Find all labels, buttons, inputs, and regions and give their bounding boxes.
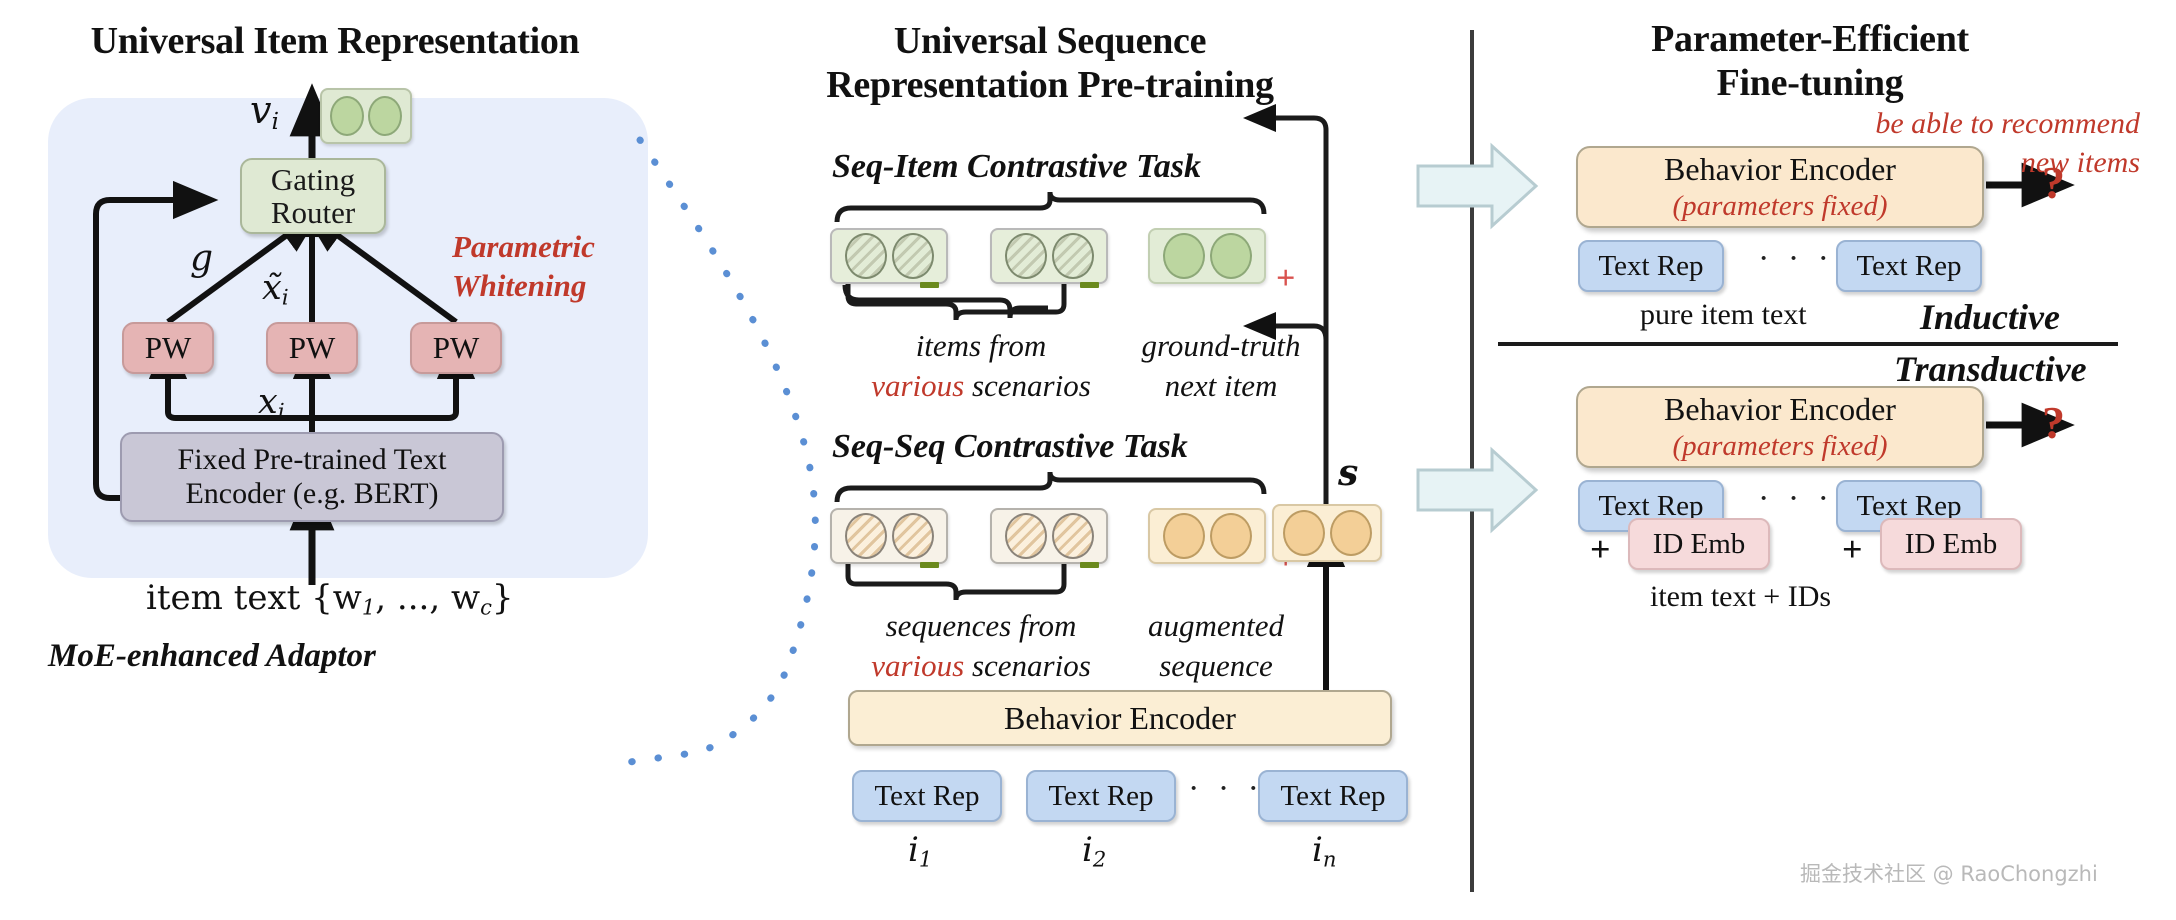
positive-sign-1: + xyxy=(1276,262,1295,296)
caption-line1: items from xyxy=(866,326,1096,366)
text-rep-box-2[interactable]: Text Rep xyxy=(1026,770,1176,822)
caption-black: scenarios xyxy=(972,368,1091,403)
ellipsis-middle: · · · xyxy=(1188,772,1264,806)
gating-router-line2: Router xyxy=(271,196,355,229)
encoder-line1: Fixed Pre-trained Text xyxy=(178,443,447,477)
behavior-encoder-transductive[interactable]: Behavior Encoder (parameters fixed) xyxy=(1576,386,1984,468)
sequence-circle xyxy=(1283,510,1325,556)
pw-box-3[interactable]: PW xyxy=(410,322,502,374)
middle-title-line2: Representation Pre-training xyxy=(820,64,1280,108)
gate-label: g xyxy=(190,238,213,279)
output-vector-label: vi xyxy=(250,88,279,135)
annotation-line1: be able to recommend xyxy=(1810,104,2140,143)
id-emb-box-1[interactable]: ID Emb xyxy=(1628,518,1770,570)
text-rep-inductive-1[interactable]: Text Rep xyxy=(1578,240,1724,292)
seq-seq-negative-2 xyxy=(990,508,1108,564)
seq-seq-task-title: Seq-Seq Contrastive Task xyxy=(832,428,1188,466)
pw-box-1[interactable]: PW xyxy=(122,322,214,374)
sequence-circle xyxy=(845,513,887,559)
page-title-left: Universal Item Representation xyxy=(30,20,640,64)
fixed-text-encoder-box[interactable]: Fixed Pre-trained Text Encoder (e.g. BER… xyxy=(120,432,504,522)
item-index-2: i2 xyxy=(1082,830,1106,871)
vector-dim-2 xyxy=(368,96,402,136)
middle-title-line1: Universal Sequence xyxy=(820,20,1280,64)
sequence-circle xyxy=(1052,513,1094,559)
item-index-n: in xyxy=(1312,830,1336,871)
divider-label-transductive: Transductive xyxy=(1894,348,2087,390)
question-mark-transductive: ? xyxy=(2042,400,2065,446)
right-title-line2: Fine-tuning xyxy=(1560,62,2060,106)
caption-line2: next item xyxy=(1106,366,1336,406)
output-vector-cell xyxy=(320,88,412,144)
page-title-middle: Universal Sequence Representation Pre-tr… xyxy=(820,20,1280,107)
vector-dim-1 xyxy=(330,96,364,136)
caption-red: various xyxy=(871,648,964,683)
page-title-right: Parameter-Efficient Fine-tuning xyxy=(1560,18,2060,105)
inductive-caption: pure item text xyxy=(1640,298,1807,332)
negative-sign-4 xyxy=(1080,562,1099,568)
encoder-line2: Encoder (e.g. BERT) xyxy=(185,477,438,511)
plus-sign-2: + xyxy=(1842,528,1863,570)
seq-item-positive-caption: ground-truth next item xyxy=(1106,326,1336,407)
pw-box-2[interactable]: PW xyxy=(266,322,358,374)
ellipsis-inductive: · · · xyxy=(1758,242,1834,276)
seq-item-task-title: Seq-Item Contrastive Task xyxy=(832,148,1201,186)
ellipsis-transductive: · · · xyxy=(1758,482,1834,516)
gating-router-line1: Gating xyxy=(271,163,355,196)
sequence-circle xyxy=(1163,513,1205,559)
seq-seq-positive-caption: augmented sequence xyxy=(1108,606,1324,687)
whitened-vector-label: x̃i xyxy=(262,268,289,310)
sequence-representation-box xyxy=(1272,504,1382,562)
transductive-caption: item text + IDs xyxy=(1650,580,1831,614)
sequence-circle xyxy=(1330,510,1372,556)
question-mark-inductive: ? xyxy=(2042,160,2065,206)
text-rep-box-1[interactable]: Text Rep xyxy=(852,770,1002,822)
gating-router-box[interactable]: Gating Router xyxy=(240,158,386,234)
sequence-label-s: s xyxy=(1338,452,1358,494)
divider-label-inductive: Inductive xyxy=(1920,296,2060,338)
encoder-title: Behavior Encoder xyxy=(1664,151,1896,188)
encoder-title: Behavior Encoder xyxy=(1664,391,1896,428)
seq-seq-negatives-caption: sequences from various scenarios xyxy=(856,606,1106,687)
item-index-1: i1 xyxy=(908,830,932,871)
sequence-circle xyxy=(1210,513,1252,559)
sequence-circle xyxy=(1005,513,1047,559)
caption-line2: sequence xyxy=(1108,646,1324,686)
caption-black: scenarios xyxy=(972,648,1091,683)
sequence-circle xyxy=(892,513,934,559)
seq-seq-negative-1 xyxy=(830,508,948,564)
text-rep-box-3[interactable]: Text Rep xyxy=(1258,770,1408,822)
item-circle xyxy=(1052,233,1094,279)
pw-annot-line2: Whitening xyxy=(452,267,595,306)
plus-sign-1: + xyxy=(1590,528,1611,570)
raw-vector-label: xi xyxy=(258,382,285,424)
item-circle xyxy=(1210,233,1252,279)
seq-item-negative-2 xyxy=(990,228,1108,284)
negative-sign-2 xyxy=(1080,282,1099,288)
seq-item-positive xyxy=(1148,228,1266,284)
item-text-label: item text {w1, ..., wc} xyxy=(146,578,514,619)
id-emb-box-2[interactable]: ID Emb xyxy=(1880,518,2022,570)
behavior-encoder-pretrain[interactable]: Behavior Encoder xyxy=(848,690,1392,746)
pw-annot-line1: Parametric xyxy=(452,228,595,267)
negative-sign-1 xyxy=(920,282,939,288)
item-circle xyxy=(892,233,934,279)
seq-seq-positive xyxy=(1148,508,1266,564)
watermark: 掘金技术社区 @ RaoChongzhi xyxy=(1800,858,2098,888)
seq-item-negative-1 xyxy=(830,228,948,284)
encoder-subtitle: (parameters fixed) xyxy=(1672,430,1887,463)
seq-item-negatives-caption: items from various scenarios xyxy=(866,326,1096,407)
caption-red: various xyxy=(871,368,964,403)
parametric-whitening-annotation: Parametric Whitening xyxy=(452,228,595,306)
negative-sign-3 xyxy=(920,562,939,568)
item-circle xyxy=(845,233,887,279)
item-circle xyxy=(1005,233,1047,279)
right-title-line1: Parameter-Efficient xyxy=(1560,18,2060,62)
caption-line1: sequences from xyxy=(856,606,1106,646)
encoder-subtitle: (parameters fixed) xyxy=(1672,190,1887,223)
caption-line1: ground-truth xyxy=(1106,326,1336,366)
moe-adaptor-footer: MoE-enhanced Adaptor xyxy=(48,638,376,675)
text-rep-inductive-2[interactable]: Text Rep xyxy=(1836,240,1982,292)
behavior-encoder-inductive[interactable]: Behavior Encoder (parameters fixed) xyxy=(1576,146,1984,228)
caption-line1: augmented xyxy=(1108,606,1324,646)
item-circle xyxy=(1163,233,1205,279)
